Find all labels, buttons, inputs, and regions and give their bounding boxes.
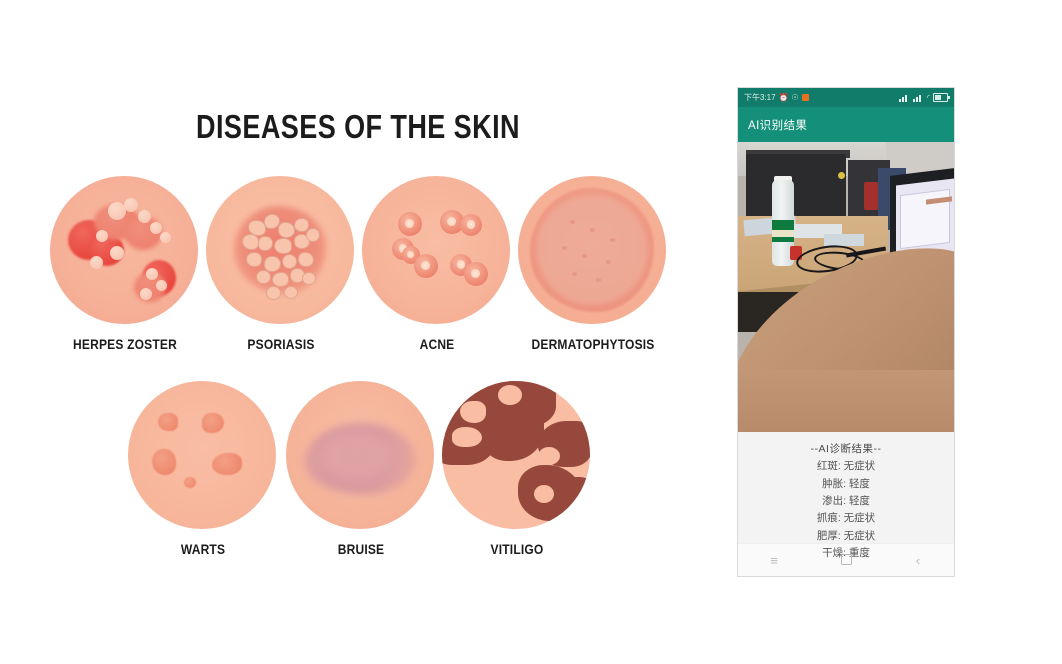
- status-bar-right: ◜: [899, 93, 948, 102]
- app-bar-title: AI识别结果: [748, 117, 807, 133]
- battery-icon: [933, 93, 948, 102]
- vitiligo-illustration: [442, 381, 590, 529]
- disease-label: PSORIASIS: [217, 336, 346, 352]
- signal-bars-icon: [899, 94, 910, 102]
- menu-icon[interactable]: ≡: [757, 554, 791, 567]
- disease-card-herpes-zoster: HERPES ZOSTER: [50, 176, 200, 352]
- phone-screen: 下午3:17 ⏰ ☉ ◜ AI识别结果: [738, 88, 954, 576]
- acne-illustration: [362, 176, 510, 324]
- bruise-illustration: [286, 381, 434, 529]
- app-bar: AI识别结果: [738, 107, 954, 142]
- diagnosis-label: 肿胀: [822, 478, 843, 490]
- disease-card-vitiligo: VITILIGO: [442, 381, 592, 557]
- disease-card-bruise: BRUISE: [286, 381, 436, 557]
- diagnosis-label: 抓痕: [817, 512, 838, 524]
- back-chevron-icon[interactable]: ‹: [901, 554, 935, 567]
- diagnosis-panel: --AI诊断结果-- 红斑: 无症状 肿胀: 轻度 渗出: 轻度 抓痕: 无症状…: [738, 432, 954, 543]
- photo-paper-3: [824, 234, 864, 246]
- notification-icon: [802, 94, 809, 101]
- diagnosis-label: 肥厚: [817, 530, 838, 542]
- photo-yellow-dot: [838, 172, 845, 179]
- disease-label: WARTS: [139, 541, 268, 557]
- disease-card-acne: ACNE: [362, 176, 512, 352]
- wifi-icon: ◜: [927, 94, 930, 102]
- diagnosis-label: 渗出: [822, 495, 843, 507]
- home-square-icon[interactable]: [829, 554, 863, 567]
- warts-illustration: [128, 381, 276, 529]
- disease-label: DERMATOPHYTOSIS: [529, 336, 658, 352]
- alarm-icon: ⏰: [779, 94, 789, 102]
- diagnosis-row-swelling: 肿胀: 轻度: [738, 476, 954, 493]
- disease-label: ACNE: [373, 336, 502, 352]
- photo-bottle-label-stripe: [772, 230, 794, 237]
- disease-label: HERPES ZOSTER: [61, 336, 190, 352]
- captured-photo[interactable]: [738, 142, 954, 432]
- photo-forearm-lower: [738, 370, 954, 432]
- status-time: 下午3:17: [744, 94, 776, 102]
- diagnosis-label: 红斑: [817, 460, 838, 472]
- page-title: DISEASES OF THE SKIN: [64, 108, 651, 146]
- dermatophytosis-illustration: [518, 176, 666, 324]
- disease-card-dermatophytosis: DERMATOPHYTOSIS: [518, 176, 668, 352]
- bluetooth-icon: ☉: [792, 94, 799, 102]
- diagnosis-value: 无症状: [844, 460, 876, 472]
- diagnosis-value: 轻度: [849, 478, 870, 490]
- psoriasis-illustration: [206, 176, 354, 324]
- disease-label: VITILIGO: [453, 541, 582, 557]
- diagnosis-value: 无症状: [844, 512, 876, 524]
- disease-label: BRUISE: [297, 541, 426, 557]
- disease-card-psoriasis: PSORIASIS: [206, 176, 356, 352]
- diagnosis-row-exudation: 渗出: 轻度: [738, 493, 954, 510]
- diagnosis-value: 无症状: [844, 530, 876, 542]
- screenshot-root: DISEASES OF THE SKIN: [0, 0, 1062, 664]
- photo-red-object: [864, 182, 878, 210]
- diagnosis-value: 轻度: [849, 495, 870, 507]
- herpes-zoster-illustration: [50, 176, 198, 324]
- diagnosis-row-erythema: 红斑: 无症状: [738, 458, 954, 475]
- disease-card-warts: WARTS: [128, 381, 278, 557]
- skin-diseases-poster: DISEASES OF THE SKIN: [0, 0, 716, 566]
- signal-bars-icon-2: [913, 94, 924, 102]
- status-bar-left: 下午3:17 ⏰ ☉: [744, 94, 809, 102]
- status-bar: 下午3:17 ⏰ ☉ ◜: [738, 88, 954, 107]
- diagnosis-heading: --AI诊断结果--: [738, 441, 954, 458]
- diagnosis-row-excoriation: 抓痕: 无症状: [738, 510, 954, 527]
